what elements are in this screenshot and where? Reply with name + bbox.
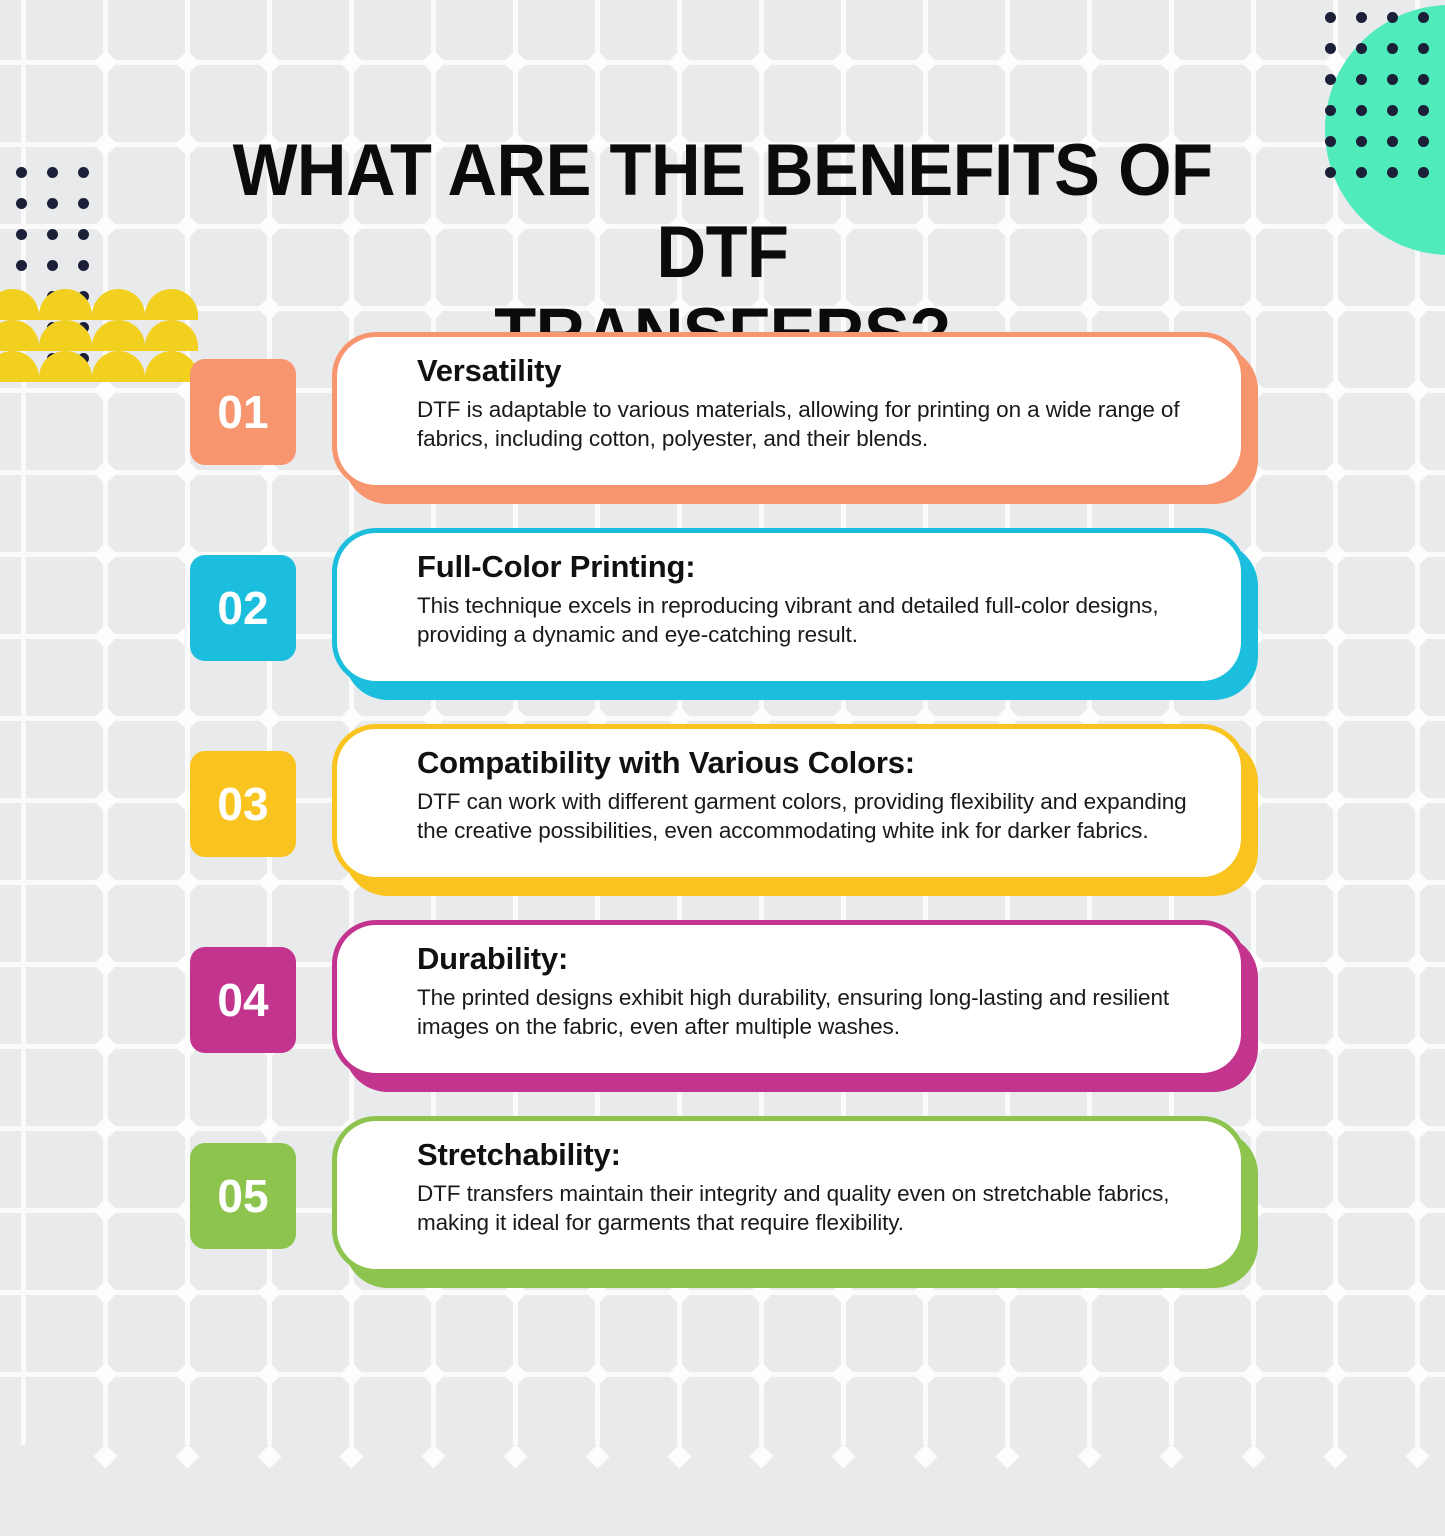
page-title-line-1: WHAT ARE THE BENEFITS OF DTF xyxy=(184,130,1260,294)
benefit-title: Versatility xyxy=(417,353,1201,389)
decorative-dot xyxy=(1325,43,1336,54)
decorative-dot xyxy=(1325,105,1336,116)
benefit-card-wrapper: Compatibility with Various Colors:DTF ca… xyxy=(332,724,1262,896)
decorative-dot xyxy=(1325,74,1336,85)
benefit-description: This technique excels in reproducing vib… xyxy=(417,591,1201,650)
decorative-dot xyxy=(1356,167,1367,178)
decorative-semicircle xyxy=(39,289,92,320)
decorative-dot xyxy=(1387,74,1398,85)
decorative-dot xyxy=(1387,167,1398,178)
decorative-dot xyxy=(1418,74,1429,85)
benefit-card-wrapper: Full-Color Printing:This technique excel… xyxy=(332,528,1262,700)
decorative-dot xyxy=(1325,167,1336,178)
decorative-dot xyxy=(1356,43,1367,54)
benefit-number-badge: 02 xyxy=(190,555,296,661)
benefit-description: DTF can work with different garment colo… xyxy=(417,787,1201,846)
benefit-number-badge: 03 xyxy=(190,751,296,857)
decorative-semicircle xyxy=(0,289,39,320)
decorative-dot xyxy=(1356,74,1367,85)
benefit-description: DTF is adaptable to various materials, a… xyxy=(417,395,1201,454)
decorative-dot xyxy=(1418,167,1429,178)
benefit-card[interactable]: Stretchability:DTF transfers maintain th… xyxy=(332,1116,1246,1274)
decorative-dot xyxy=(1387,43,1398,54)
decorative-dot xyxy=(1356,12,1367,23)
decorative-dot xyxy=(1387,136,1398,147)
decorative-dot xyxy=(1418,105,1429,116)
benefit-description: The printed designs exhibit high durabil… xyxy=(417,983,1201,1042)
benefit-title: Compatibility with Various Colors: xyxy=(417,745,1201,781)
benefit-number-badge: 05 xyxy=(190,1143,296,1249)
benefit-title: Stretchability: xyxy=(417,1137,1201,1173)
benefit-card-wrapper: Durability:The printed designs exhibit h… xyxy=(332,920,1262,1092)
benefit-row[interactable]: 02Full-Color Printing:This technique exc… xyxy=(0,528,1445,724)
decorative-dot xyxy=(1325,12,1336,23)
benefit-number-badge: 01 xyxy=(190,359,296,465)
decorative-dot xyxy=(1325,136,1336,147)
benefit-number-badge: 04 xyxy=(190,947,296,1053)
benefit-title: Durability: xyxy=(417,941,1201,977)
benefit-card[interactable]: VersatilityDTF is adaptable to various m… xyxy=(332,332,1246,490)
benefit-row[interactable]: 05Stretchability:DTF transfers maintain … xyxy=(0,1116,1445,1312)
decorative-dot xyxy=(1387,105,1398,116)
benefit-row[interactable]: 04Durability:The printed designs exhibit… xyxy=(0,920,1445,1116)
benefit-card[interactable]: Full-Color Printing:This technique excel… xyxy=(332,528,1246,686)
decorative-dot xyxy=(1356,136,1367,147)
benefit-title: Full-Color Printing: xyxy=(417,549,1201,585)
decorative-dot xyxy=(1418,136,1429,147)
benefit-card-wrapper: VersatilityDTF is adaptable to various m… xyxy=(332,332,1262,504)
decorative-dot xyxy=(1418,43,1429,54)
benefit-row[interactable]: 03Compatibility with Various Colors:DTF … xyxy=(0,724,1445,920)
benefit-row[interactable]: 01VersatilityDTF is adaptable to various… xyxy=(0,332,1445,528)
decorative-dot xyxy=(1387,12,1398,23)
decorative-dot xyxy=(1418,12,1429,23)
benefit-description: DTF transfers maintain their integrity a… xyxy=(417,1179,1201,1238)
benefit-card[interactable]: Compatibility with Various Colors:DTF ca… xyxy=(332,724,1246,882)
benefits-list: 01VersatilityDTF is adaptable to various… xyxy=(0,332,1445,1312)
benefit-card-wrapper: Stretchability:DTF transfers maintain th… xyxy=(332,1116,1262,1288)
decorative-dot xyxy=(1356,105,1367,116)
decorative-semicircle xyxy=(92,289,145,320)
benefit-card[interactable]: Durability:The printed designs exhibit h… xyxy=(332,920,1246,1078)
